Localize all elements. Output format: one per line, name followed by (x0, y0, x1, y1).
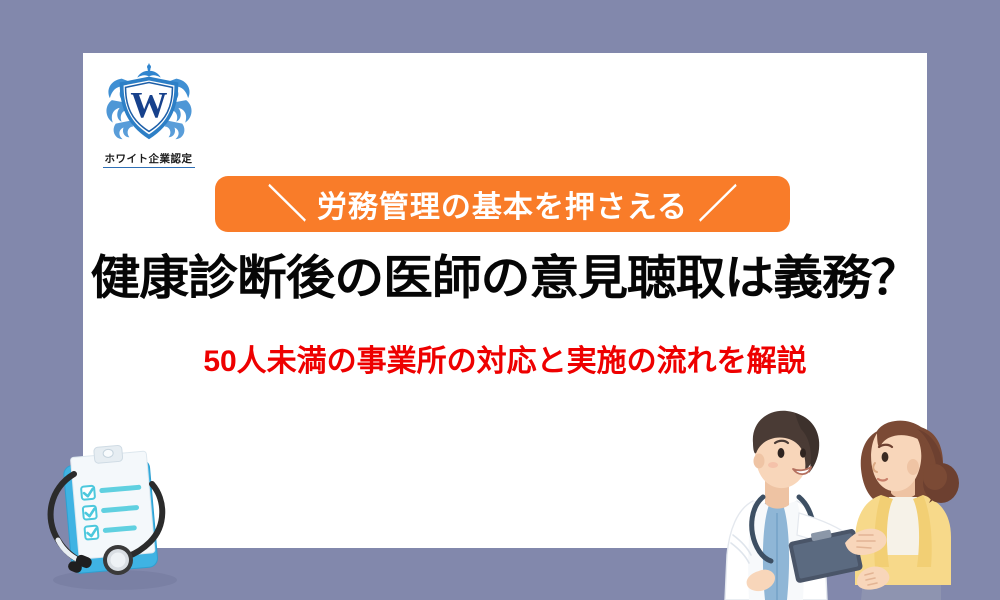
ribbon-right-slash-icon: ／ (698, 185, 737, 224)
doctor-figure (725, 411, 871, 600)
ribbon-left-slash-icon: ＼ (268, 185, 307, 224)
ribbon-label: 労務管理の基本を押さえる (317, 182, 688, 226)
kicker-ribbon: ＼ 労務管理の基本を押さえる ／ (215, 176, 790, 232)
page-subtitle: 50人未満の事業所の対応と実施の流れを解説 (83, 343, 927, 381)
brand-logo: W ホワイト企業認定 (96, 61, 201, 176)
logo-caption: ホワイト企業認定 (103, 153, 195, 168)
patient-figure (855, 421, 959, 600)
logo-monogram: W (130, 86, 167, 127)
shield-crest-icon: W (100, 61, 198, 149)
medical-clipboard-illustration (20, 440, 210, 600)
page-title: 健康診断後の医師の意見聴取は義務？ (58, 249, 953, 306)
doctor-patient-illustration (695, 385, 1000, 600)
